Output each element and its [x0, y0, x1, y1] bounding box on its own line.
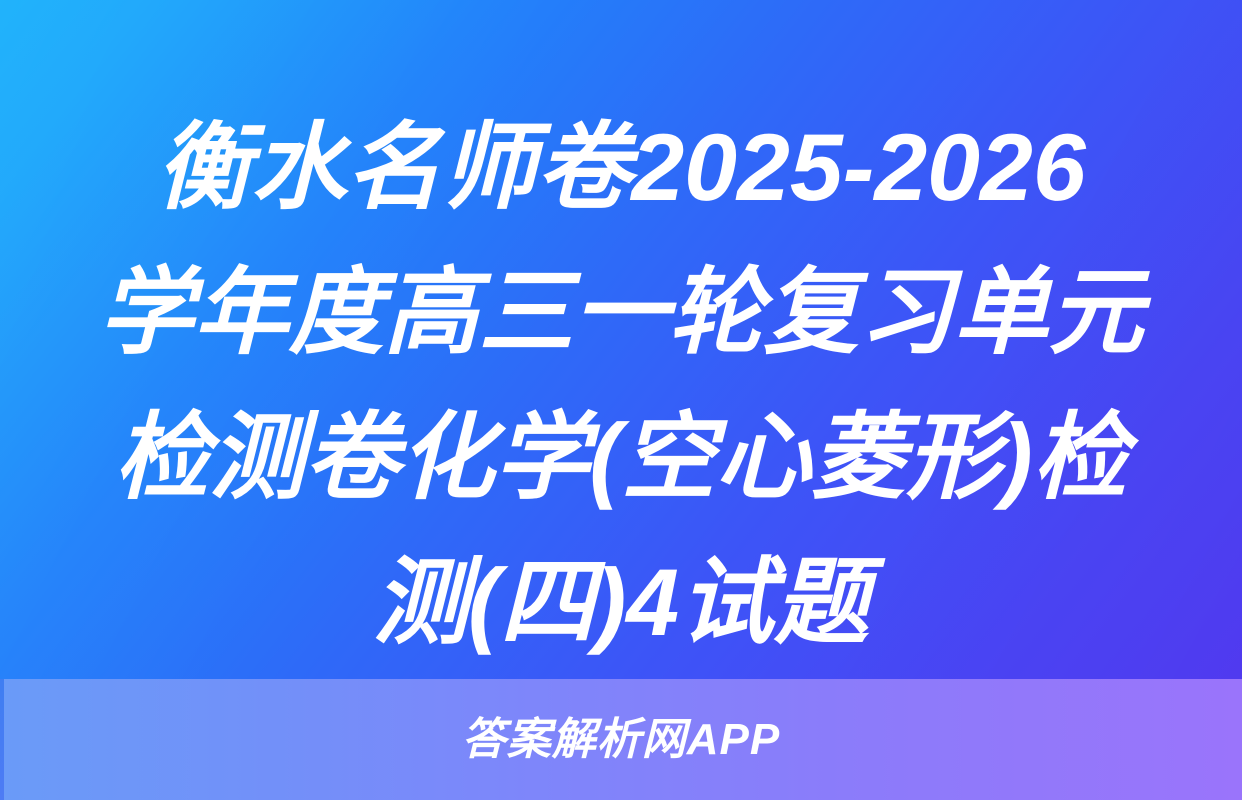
- app-footer-banner: 答案解析网APP: [0, 679, 1242, 800]
- title-line-2: 学年度高三一轮复习单元: [36, 241, 1206, 386]
- title-line-4: 测(四)4试题: [36, 531, 1206, 676]
- app-name-label: 答案解析网APP: [462, 718, 780, 762]
- title-line-3: 检测卷化学(空心菱形)检: [36, 386, 1206, 531]
- page-title: 衡水名师卷2025-2026 学年度高三一轮复习单元 检测卷化学(空心菱形)检 …: [0, 96, 1242, 676]
- poster-canvas: 衡水名师卷2025-2026 学年度高三一轮复习单元 检测卷化学(空心菱形)检 …: [0, 0, 1242, 800]
- title-line-1: 衡水名师卷2025-2026: [36, 96, 1206, 241]
